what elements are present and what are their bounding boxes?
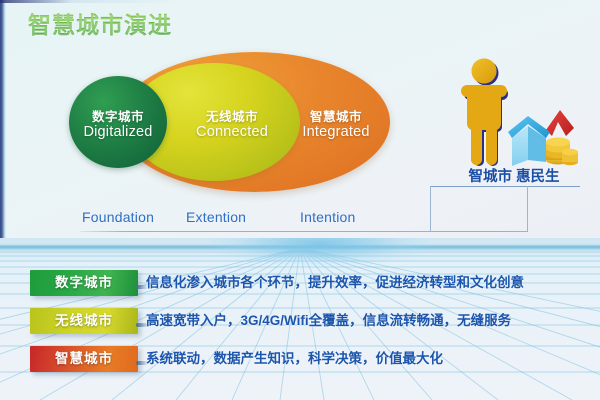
venn-label-connected: 无线城市 Connected — [182, 110, 282, 140]
row-description: 系统联动，数据产生知识，科学决策，价值最大化 — [146, 348, 443, 370]
row-description: 高速宽带入户，3G/4G/Wifi全覆盖，信息流转畅通，无缝服务 — [146, 310, 511, 332]
venn-label-digitalized-cn: 数字城市 — [70, 110, 166, 124]
venn-label-digitalized: 数字城市 Digitalized — [70, 110, 166, 140]
red-roof-shape — [546, 110, 574, 136]
venn-label-integrated-cn: 智慧城市 — [286, 110, 386, 124]
table-row: 数字城市 信息化渗入城市各个环节，提升效率，促进经济转型和文化创意 — [0, 268, 600, 302]
benefit-caption: 智城市 惠民生 — [424, 165, 600, 186]
slide-canvas: 智慧城市演进 数字城市 Digitalized 无线城市 Connected 智… — [0, 0, 600, 400]
row-badge-digital-city[interactable]: 数字城市 — [30, 270, 138, 296]
stage-label-foundation: Foundation — [82, 209, 154, 225]
venn-label-connected-en: Connected — [182, 124, 282, 140]
venn-label-integrated-en: Integrated — [286, 124, 386, 140]
table-row: 智慧城市 系统联动，数据产生知识，科学决策，价值最大化 — [0, 344, 600, 378]
stage-underline — [80, 231, 528, 232]
venn-label-integrated: 智慧城市 Integrated — [286, 110, 386, 140]
row-badge-smart-city[interactable]: 智慧城市 — [30, 346, 138, 372]
row-badge-wireless-city[interactable]: 无线城市 — [30, 308, 138, 334]
stage-label-intention: Intention — [300, 209, 356, 225]
stage-label-row: Foundation Extention Intention — [72, 209, 402, 231]
row-description: 信息化渗入城市各个环节，提升效率，促进经济转型和文化创意 — [146, 272, 524, 294]
venn-label-digitalized-en: Digitalized — [70, 124, 166, 140]
coin-stack-shape — [546, 138, 578, 166]
stage-label-extention: Extention — [186, 209, 246, 225]
house-coins-icon — [502, 100, 580, 172]
detail-rows: 数字城市 信息化渗入城市各个环节，提升效率，促进经济转型和文化创意 无线城市 高… — [0, 238, 600, 400]
venn-label-connected-cn: 无线城市 — [182, 110, 282, 124]
bracket-box — [430, 186, 528, 232]
table-row: 无线城市 高速宽带入户，3G/4G/Wifi全覆盖，信息流转畅通，无缝服务 — [0, 306, 600, 340]
